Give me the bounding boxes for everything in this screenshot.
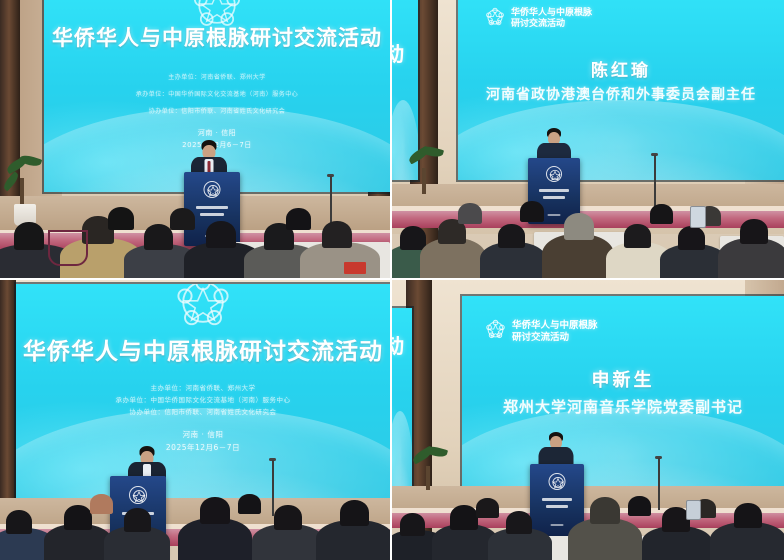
- slide-organizer-3: 协办单位：信阳市侨联、河南省姓氏文化研究会: [44, 106, 390, 115]
- speaker-name: 申新生: [462, 366, 784, 392]
- panel-bottom-left: 华侨华人与中原根脉研讨交流活动 主办单位：河南省侨联、郑州大学 承办单位：中国华…: [0, 280, 390, 560]
- panel-bottom-right: 动: [392, 280, 784, 560]
- plant-trunk: [426, 466, 430, 490]
- emblem-icon: [484, 318, 507, 345]
- slide-title: 华侨华人与中原根脉研讨交流活动: [16, 332, 390, 366]
- conference-room: 华侨华人与中原根脉研讨交流活动 主办单位：河南省侨联、郑州大学 承办单位：中国华…: [0, 0, 390, 278]
- led-screen-overflow: 动: [392, 308, 412, 488]
- stroller-frame: [48, 230, 88, 266]
- panel-divider-vertical: [390, 0, 392, 560]
- panel-divider-horizontal: [0, 278, 784, 280]
- speaker-name: 陈红瑜: [458, 56, 784, 81]
- speaker-title: 郑州大学河南音乐学院党委副书记: [462, 396, 784, 417]
- led-screen: 华侨华人与中原根脉 研讨交流活动 申新生 郑州大学河南音乐学院党委副书记: [462, 296, 784, 492]
- photo-grid: 华侨华人与中原根脉研讨交流活动 主办单位：河南省侨联、郑州大学 承办单位：中国华…: [0, 0, 784, 560]
- smartphone: [686, 500, 701, 520]
- slide-organizer-2: 承办单位：中国华侨国际文化交流基地（河南）服务中心: [16, 394, 390, 404]
- emblem-icon: [484, 6, 506, 32]
- slide-date: 2025年12月6－7日: [16, 442, 390, 453]
- slide-organizer-1: 主办单位：河南省侨联、郑州大学: [44, 72, 390, 81]
- lockup-line-1: 华侨华人与中原根脉: [512, 320, 598, 331]
- name-placard: [344, 262, 366, 274]
- slide-organizer-1: 主办单位：河南省侨联、郑州大学: [16, 382, 390, 392]
- smartphone: [690, 206, 706, 228]
- podium-emblem-icon: [546, 166, 562, 182]
- panel-top-right: 动: [392, 0, 784, 278]
- led-screen: 华侨华人与中原根脉研讨交流活动 主办单位：河南省侨联、郑州大学 承办单位：中国华…: [16, 284, 390, 502]
- podium-emblem-icon: [549, 473, 566, 490]
- slide-location: 河南 · 信阳: [44, 128, 390, 138]
- emblem-icon: [173, 284, 233, 332]
- slide-organizer-3: 协办单位：信阳市侨联、河南省姓氏文化研究会: [16, 406, 390, 416]
- audience-row: [0, 494, 390, 560]
- led-screen: 华侨华人与中原根脉 研讨交流活动 陈红瑜 河南省政协港澳台侨和外事委员会副主任: [458, 0, 784, 180]
- audience-row: [392, 492, 784, 560]
- audience-row: [392, 184, 784, 278]
- slide-organizer-2: 承办单位：中国华侨国际文化交流基地（河南）服务中心: [44, 89, 390, 98]
- slide-location: 河南 · 信阳: [16, 429, 390, 440]
- conference-room: 华侨华人与中原根脉研讨交流活动 主办单位：河南省侨联、郑州大学 承办单位：中国华…: [0, 280, 390, 560]
- slide-logo-lockup: 华侨华人与中原根脉 研讨交流活动: [484, 318, 598, 345]
- conference-room: 动: [392, 0, 784, 278]
- lockup-line-1: 华侨华人与中原根脉: [511, 8, 592, 19]
- slide-logo-lockup: 华侨华人与中原根脉 研讨交流活动: [484, 6, 592, 32]
- emblem-icon: [190, 0, 244, 32]
- speaker-title: 河南省政协港澳台侨和外事委员会副主任: [458, 84, 784, 104]
- lockup-line-2: 研讨交流活动: [511, 19, 592, 30]
- conference-room: 动: [392, 280, 784, 560]
- podium-emblem-icon: [204, 181, 221, 198]
- plant-trunk: [20, 178, 24, 206]
- lockup-line-2: 研讨交流活动: [512, 332, 598, 343]
- panel-top-left: 华侨华人与中原根脉研讨交流活动 主办单位：河南省侨联、郑州大学 承办单位：中国华…: [0, 0, 390, 278]
